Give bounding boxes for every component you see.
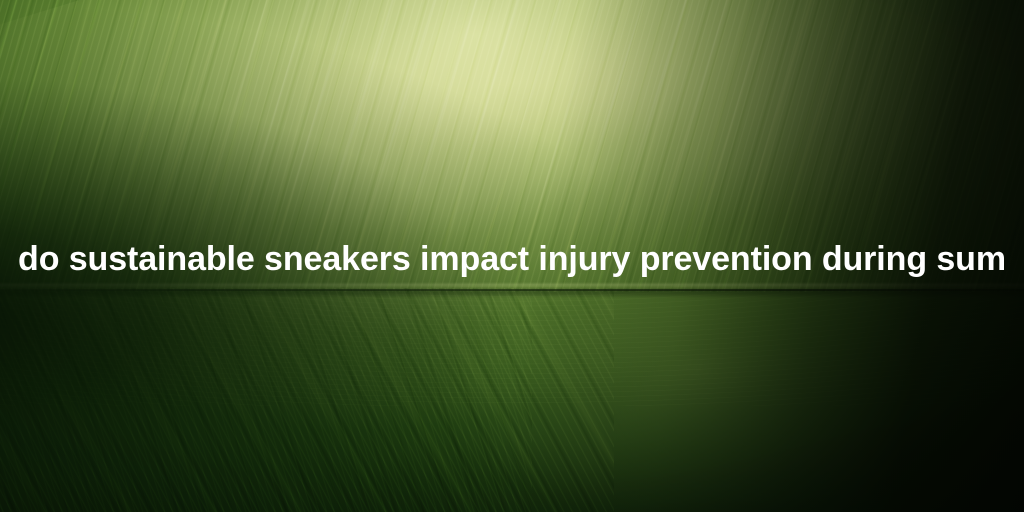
headline-text: do sustainable sneakers impact injury pr… bbox=[18, 242, 1006, 276]
headline-container: do sustainable sneakers impact injury pr… bbox=[0, 0, 1024, 512]
leaf-banner: do sustainable sneakers impact injury pr… bbox=[0, 0, 1024, 512]
